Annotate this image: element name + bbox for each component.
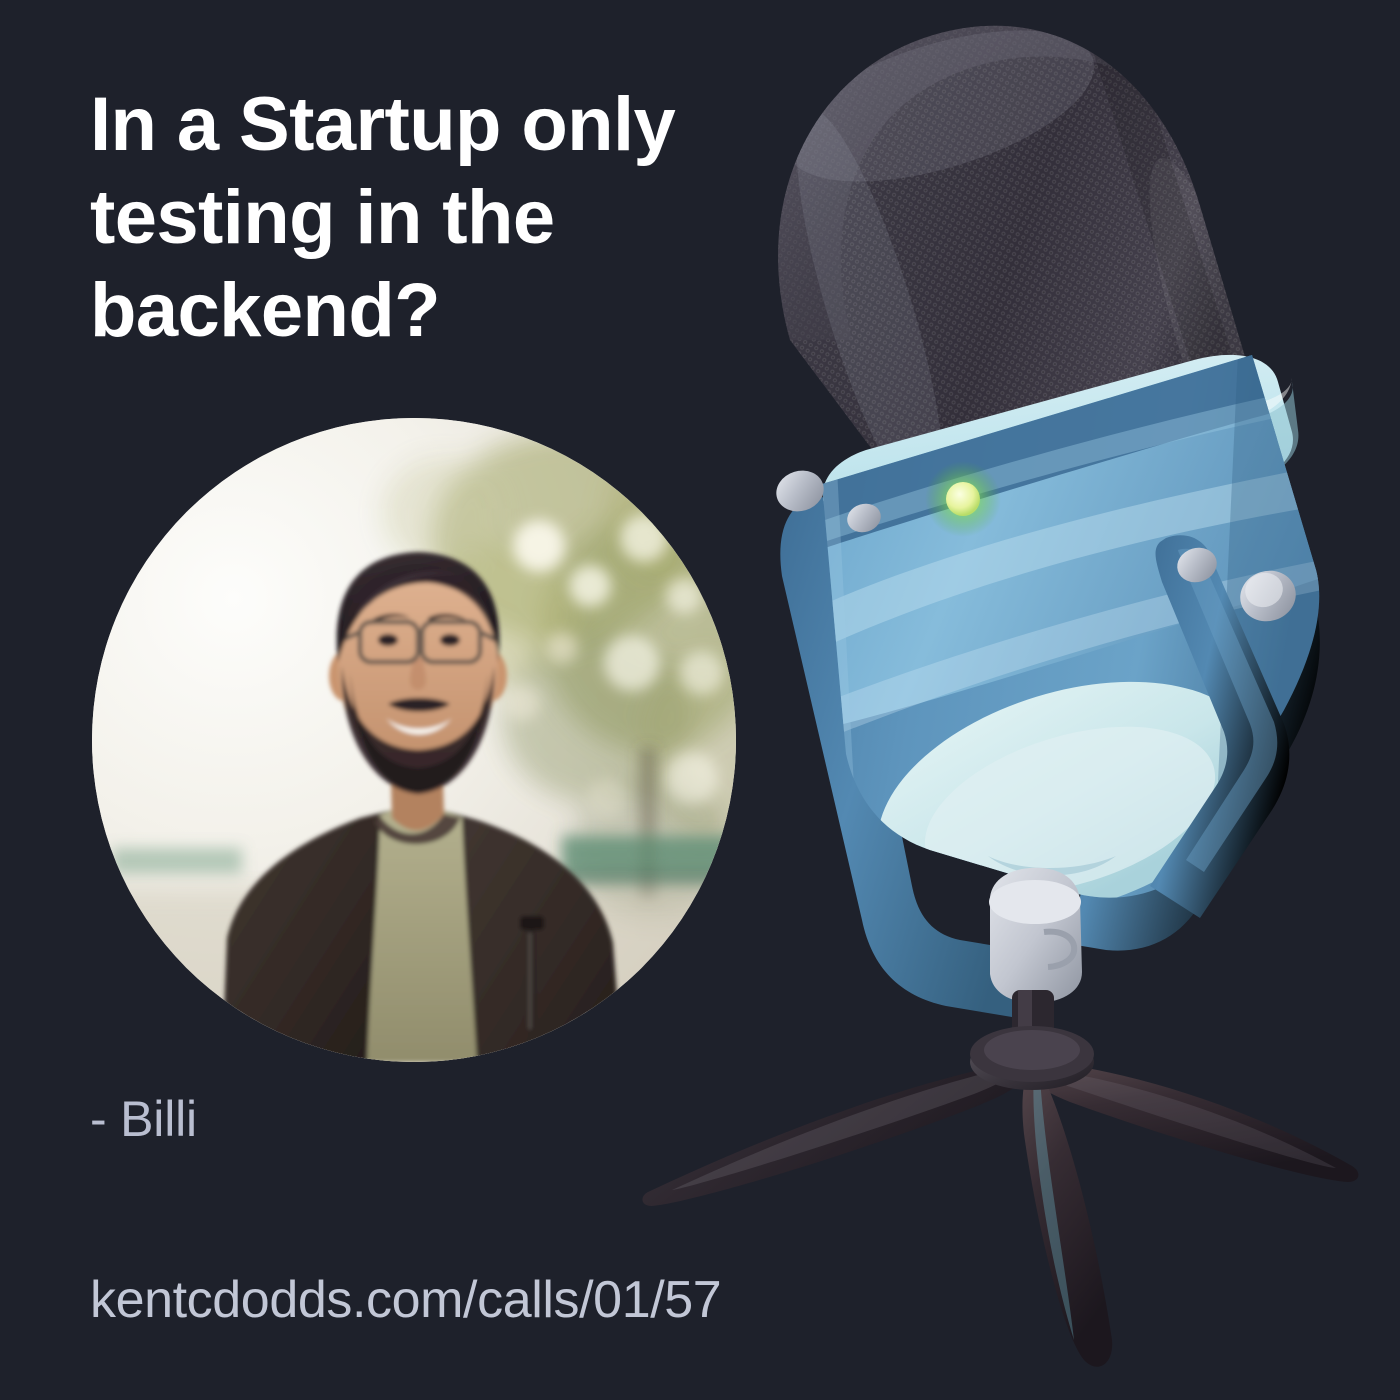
guest-byline: - Billi: [90, 1090, 197, 1148]
mic-mount-knob: [989, 868, 1082, 1003]
mic-led-indicator: [925, 461, 1001, 537]
podcast-share-card: In a Startup only testing in the backend…: [0, 0, 1400, 1400]
mic-tripod-stand: [642, 990, 1358, 1367]
microphone-icon: [600, 10, 1400, 1400]
podcast-microphone-illustration: [600, 10, 1400, 1400]
